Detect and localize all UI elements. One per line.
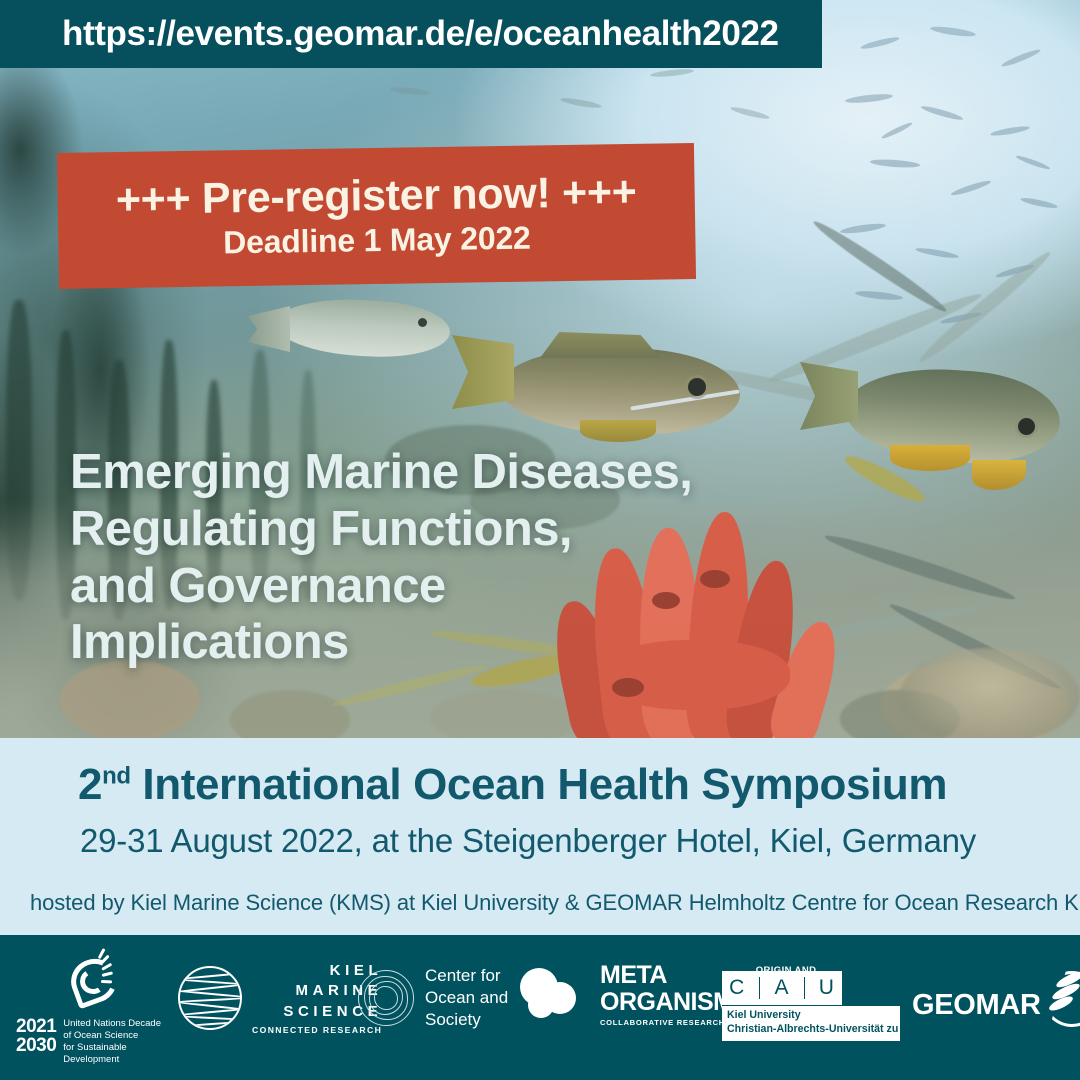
fish-school-member bbox=[930, 25, 977, 38]
center-ocean-society-icon bbox=[358, 970, 414, 1026]
page-title: Emerging Marine Diseases, Regulating Fun… bbox=[70, 444, 790, 671]
fish-school-member bbox=[860, 35, 900, 50]
fish-school-member bbox=[990, 125, 1030, 138]
fish-school-member bbox=[730, 105, 770, 120]
coral-rock bbox=[430, 690, 580, 740]
un-decade-years: 2021 2030 bbox=[16, 1017, 56, 1055]
un-ocean-decade-icon bbox=[67, 953, 125, 1011]
fish-fin-pelvic bbox=[890, 445, 970, 471]
event-date-venue: 29-31 August 2022, at the Steigenberger … bbox=[80, 822, 976, 860]
fish-silver bbox=[274, 295, 452, 360]
event-url-text[interactable]: https://events.geomar.de/e/oceanhealth20… bbox=[0, 14, 779, 54]
fish-school-member bbox=[1020, 196, 1058, 210]
pre-register-headline: +++ Pre-register now! +++ bbox=[116, 170, 637, 223]
fish-school-member bbox=[560, 96, 602, 109]
center-ocean-society-wordmark: Center for Ocean and Society bbox=[425, 965, 508, 1030]
fish-school-member bbox=[840, 222, 887, 235]
fish-fin-anal bbox=[972, 460, 1026, 490]
cau-letter-u: U bbox=[819, 976, 835, 1000]
fish-school-member bbox=[1000, 47, 1041, 68]
logo-center-ocean-society[interactable]: Center for Ocean and Society bbox=[358, 965, 508, 1030]
fish-school-member bbox=[950, 179, 992, 198]
un-decade-desc-1: United Nations Decade bbox=[63, 1018, 176, 1030]
fish-fin-dorsal bbox=[540, 332, 660, 358]
symposium-title-rest: International Ocean Health Symposium bbox=[131, 760, 948, 809]
title-line-2: Regulating Functions, bbox=[70, 501, 790, 558]
pre-register-callout[interactable]: +++ Pre-register now! +++ Deadline 1 May… bbox=[57, 143, 696, 289]
fish-school-member bbox=[915, 246, 959, 260]
geomar-icon bbox=[1037, 967, 1080, 1031]
symposium-ordinal-number: 2 bbox=[78, 760, 102, 809]
title-line-3: and Governance bbox=[70, 558, 790, 615]
kiel-marine-science-icon bbox=[178, 966, 242, 1030]
title-line-4: Implications bbox=[70, 614, 790, 671]
cau-name-en: Kiel University bbox=[727, 1009, 896, 1023]
cau-name-de: Christian-Albrechts-Universität zu Kiel bbox=[727, 1023, 896, 1037]
symposium-title: 2nd International Ocean Health Symposium bbox=[78, 760, 947, 810]
event-info-band: 2nd International Ocean Health Symposium… bbox=[0, 738, 1080, 935]
branching-coral bbox=[810, 216, 950, 316]
fish-eye bbox=[688, 378, 706, 396]
cau-letter-a: A bbox=[774, 976, 789, 1000]
fish-school-member bbox=[1015, 154, 1051, 171]
fish-school-member bbox=[920, 104, 964, 122]
cos-line-2: Ocean and bbox=[425, 987, 508, 1009]
un-decade-year-end: 2030 bbox=[16, 1036, 56, 1055]
sponsor-logo-bar: 2021 2030 United Nations Decade of Ocean… bbox=[0, 935, 1080, 1080]
fish-school-member bbox=[870, 158, 920, 168]
logo-kiel-marine-science[interactable]: KIEL MARINE SCIENCE CONNECTED RESEARCH bbox=[178, 961, 382, 1035]
fish-school-member bbox=[390, 86, 430, 96]
fish-tail bbox=[452, 335, 514, 409]
fish-school-member bbox=[845, 93, 893, 105]
geomar-wordmark: GEOMAR bbox=[912, 989, 1041, 1022]
fish-eye bbox=[418, 318, 427, 327]
meta-organisms-icon bbox=[520, 966, 592, 1024]
poster-root: https://events.geomar.de/e/oceanhealth20… bbox=[0, 0, 1080, 1080]
un-decade-description: United Nations Decade of Ocean Science f… bbox=[63, 1017, 176, 1067]
cos-line-3: Society bbox=[425, 1009, 508, 1031]
url-banner[interactable]: https://events.geomar.de/e/oceanhealth20… bbox=[0, 0, 822, 68]
cau-name-block: Kiel University Christian-Albrechts-Univ… bbox=[722, 1005, 900, 1041]
coral-rock bbox=[60, 660, 200, 740]
cau-initials-block: C A U bbox=[722, 971, 842, 1005]
fish-school-member bbox=[650, 68, 694, 79]
fish-school-member bbox=[881, 121, 914, 140]
fish-school-member bbox=[855, 290, 903, 302]
symposium-ordinal-suffix: nd bbox=[102, 762, 131, 789]
cau-letter-c: C bbox=[729, 976, 745, 1000]
fish-eye bbox=[1018, 418, 1035, 435]
sponge-osculum bbox=[612, 678, 644, 697]
logo-cau-kiel-university[interactable]: C A U Kiel University Christian-Albrecht… bbox=[722, 971, 900, 1041]
title-line-1: Emerging Marine Diseases, bbox=[70, 444, 790, 501]
cos-line-1: Center for bbox=[425, 965, 508, 987]
event-host-line: hosted by Kiel Marine Science (KMS) at K… bbox=[30, 890, 1080, 916]
logo-geomar[interactable]: GEOMAR bbox=[912, 979, 1080, 1031]
un-decade-year-start: 2021 bbox=[16, 1017, 56, 1036]
un-decade-desc-2: of Ocean Science bbox=[63, 1030, 176, 1042]
pre-register-deadline: Deadline 1 May 2022 bbox=[223, 221, 531, 261]
fish-fin-pelvic bbox=[580, 420, 656, 442]
logo-un-ocean-decade[interactable]: 2021 2030 United Nations Decade of Ocean… bbox=[16, 953, 176, 1067]
coral-clump-right bbox=[900, 648, 1080, 740]
un-decade-desc-3: for Sustainable Development bbox=[63, 1042, 176, 1066]
